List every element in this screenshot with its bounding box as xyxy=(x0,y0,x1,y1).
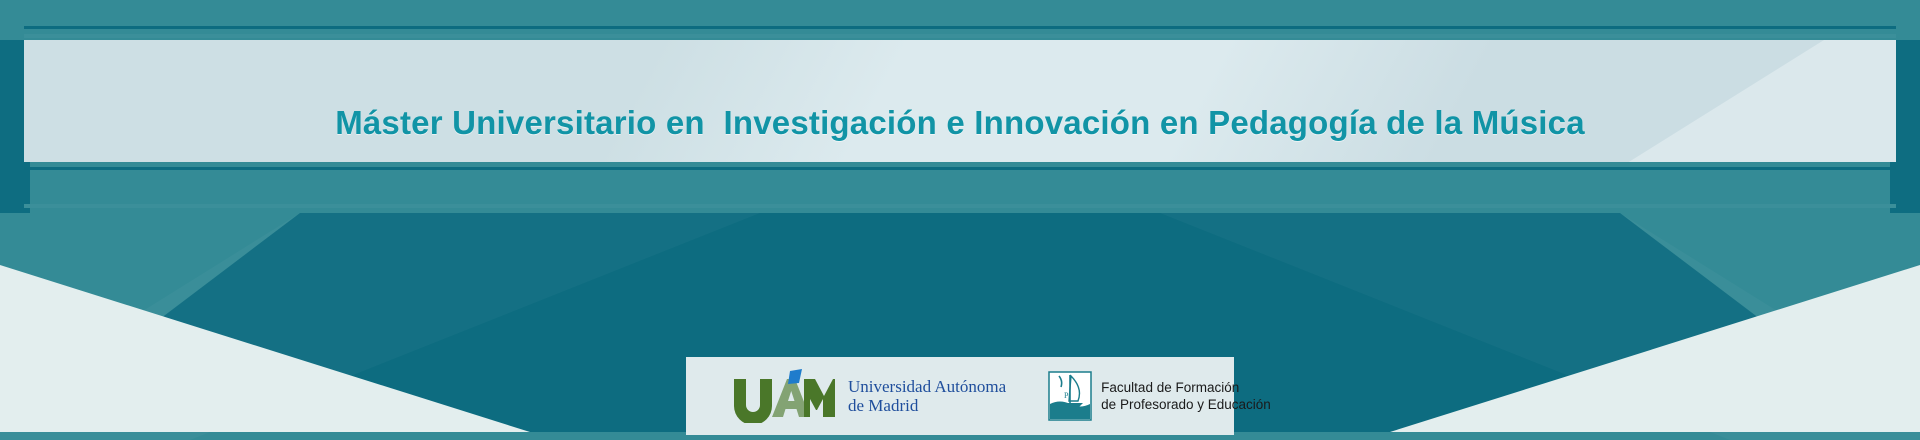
faculty-wordmark: Facultad de Formación de Profesorado y E… xyxy=(1101,379,1271,413)
faculty-name-line1: Facultad de Formación xyxy=(1101,380,1239,395)
title-frame-top-rule xyxy=(24,34,1896,38)
faculty-logo: P Facultad de Formación de Profesorado y… xyxy=(1048,370,1271,422)
uam-wordmark: Universidad Autónoma de Madrid xyxy=(848,377,1006,416)
svg-text:P: P xyxy=(1064,391,1069,400)
faculty-name-line2: de Profesorado y Educación xyxy=(1101,396,1271,413)
uam-logo: Universidad Autónoma de Madrid xyxy=(732,369,1006,423)
title-frame-bottom-rule xyxy=(24,204,1896,208)
uam-name-line1: Universidad Autónoma xyxy=(848,377,1006,396)
page-title: Máster Universitario en Investigación e … xyxy=(24,62,1896,184)
uam-logo-icon xyxy=(732,369,836,423)
uam-name-line2: de Madrid xyxy=(848,396,1006,415)
logo-bar: Universidad Autónoma de Madrid P xyxy=(686,357,1234,435)
sailboat-emblem-icon: P xyxy=(1048,370,1092,422)
presentation-slide: Máster Universitario en Investigación e … xyxy=(0,0,1920,440)
